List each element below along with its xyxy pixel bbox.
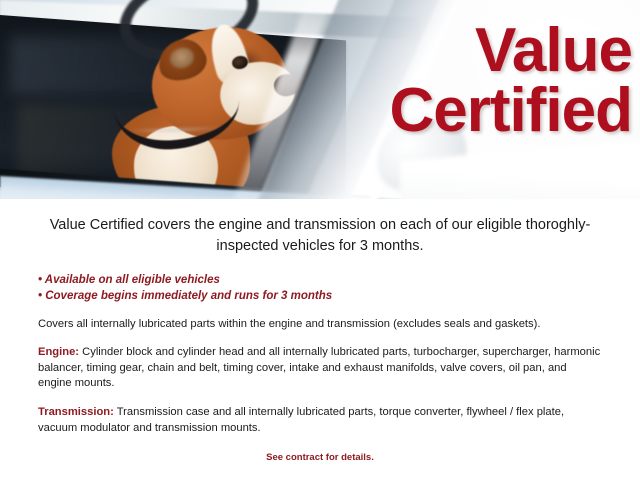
car-body-glare: [430, 0, 640, 140]
engine-label: Engine:: [38, 346, 79, 358]
coverage-note: Covers all internally lubricated parts w…: [38, 317, 602, 332]
content-area: Value Certified covers the engine and tr…: [0, 199, 640, 480]
transmission-label: Transmission:: [38, 406, 114, 418]
transmission-coverage-text: Transmission case and all internally lub…: [38, 406, 564, 434]
engine-coverage-text: Cylinder block and cylinder head and all…: [38, 346, 600, 390]
bullet-item-coverage-start: • Coverage begins immediately and runs f…: [38, 289, 640, 305]
hero-banner: Value Certified: [0, 0, 640, 199]
lede-paragraph: Value Certified covers the engine and tr…: [46, 215, 594, 257]
benefits-bullet-list: • Available on all eligible vehicles • C…: [38, 273, 640, 304]
engine-coverage-paragraph: Engine: Cylinder block and cylinder head…: [38, 345, 602, 393]
bullet-item-availability: • Available on all eligible vehicles: [38, 273, 640, 289]
transmission-coverage-paragraph: Transmission: Transmission case and all …: [38, 405, 602, 437]
contract-disclaimer: See contract for details.: [0, 452, 640, 463]
